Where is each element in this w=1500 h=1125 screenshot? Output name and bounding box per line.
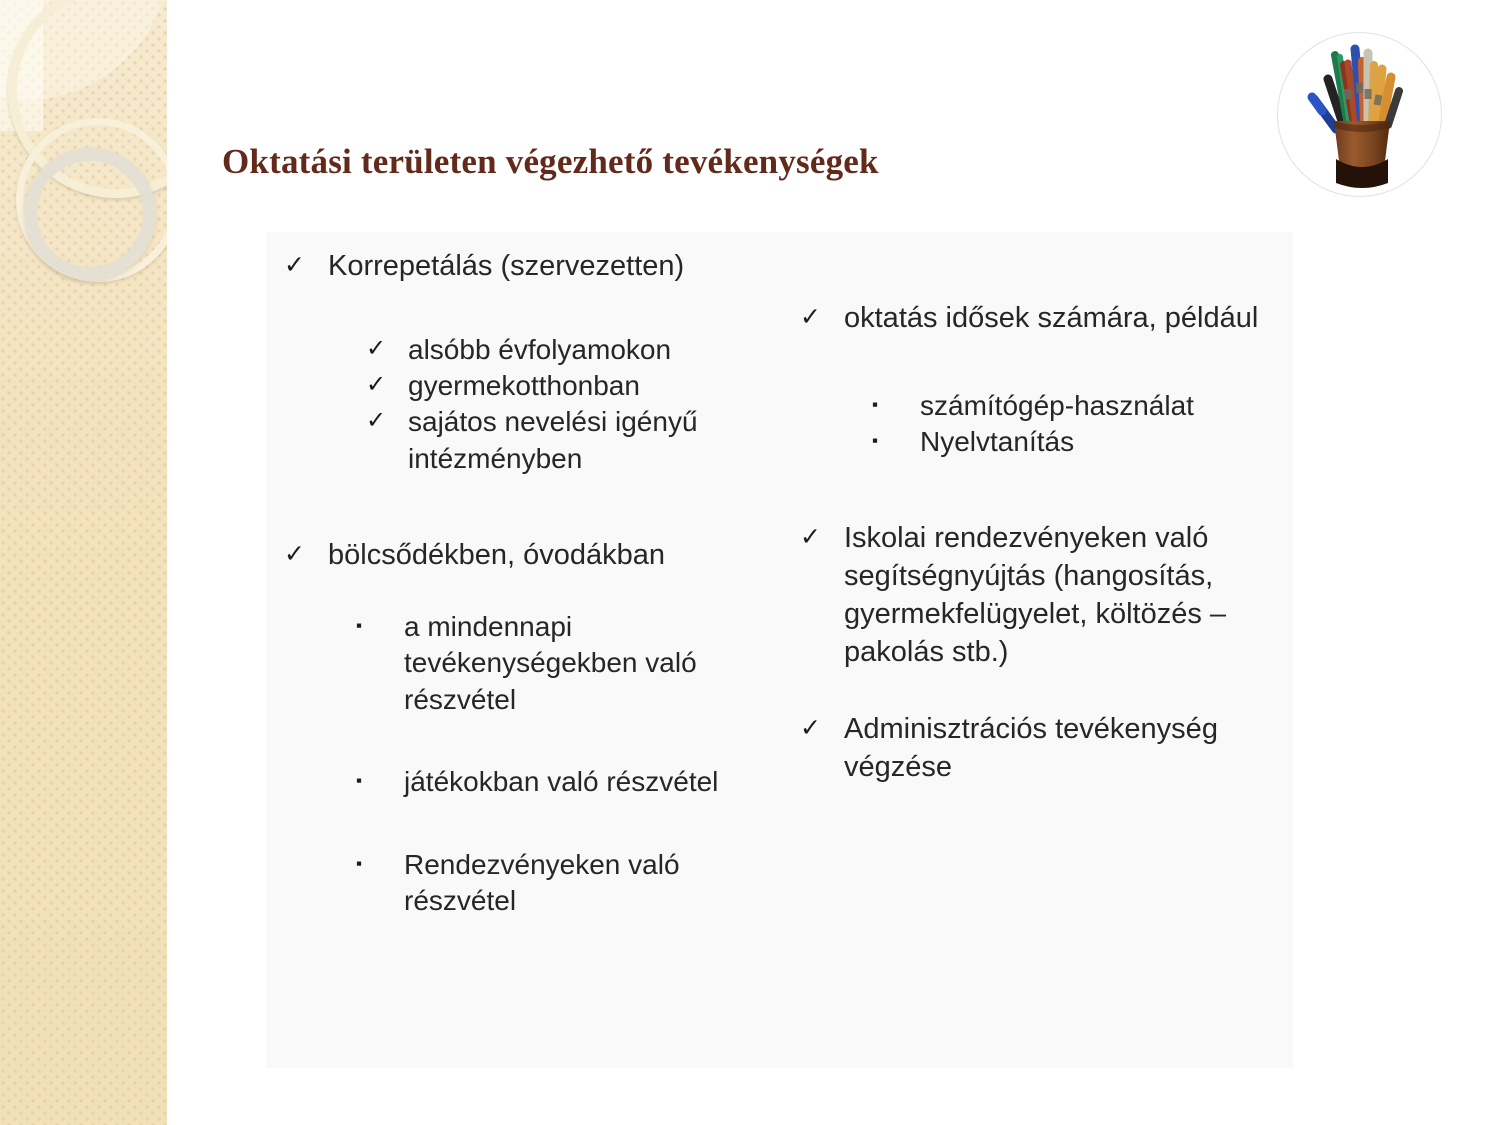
list-item[interactable]: ✓ sajátos nevelési igényű intézményben — [366, 404, 766, 477]
list-item[interactable]: ▪ a mindennapi tevékenységekben való rés… — [356, 609, 766, 718]
list-item[interactable]: ▪ játékokban való részvétel — [356, 764, 766, 800]
check-icon: ✓ — [366, 368, 408, 403]
list-item-label: Iskolai rendezvényeken való segítségnyúj… — [844, 520, 1282, 671]
right-content-column: ✓ oktatás idősek számára, például ▪ szám… — [782, 232, 1282, 787]
list-item[interactable]: ✓ oktatás idősek számára, például — [800, 300, 1282, 338]
check-icon: ✓ — [366, 332, 408, 367]
spacer — [782, 232, 1282, 300]
list-item-label: a mindennapi tevékenységekben való részv… — [404, 609, 766, 718]
check-icon: ✓ — [366, 404, 408, 439]
spacer — [266, 718, 766, 764]
list-item-label: Korrepetálás (szervezetten) — [328, 248, 766, 286]
spacer — [782, 460, 1282, 520]
square-bullet-icon: ▪ — [356, 764, 404, 797]
spacer — [266, 801, 766, 847]
list-item[interactable]: ▪ számítógép-használat — [872, 388, 1282, 424]
list-item[interactable]: ✓ Adminisztrációs tevékenység végzése — [800, 711, 1282, 786]
list-item-label: Nyelvtanítás — [920, 424, 1282, 460]
content-panel: ✓ Korrepetálás (szervezetten) ✓ alsóbb é… — [266, 232, 1293, 1068]
check-icon: ✓ — [800, 520, 844, 556]
list-item[interactable]: ▪ Nyelvtanítás — [872, 424, 1282, 460]
spacer — [266, 232, 766, 248]
slide-title: Oktatási területen végezhető tevékenység… — [222, 142, 1222, 182]
square-bullet-icon: ▪ — [356, 609, 404, 642]
list-item-label: sajátos nevelési igényű intézményben — [408, 404, 766, 477]
list-item-label: Rendezvényeken való részvétel — [404, 847, 766, 920]
square-bullet-icon: ▪ — [872, 424, 920, 457]
list-item[interactable]: ▪ Rendezvényeken való részvétel — [356, 847, 766, 920]
list-item-label: játékokban való részvétel — [404, 764, 766, 800]
list-item-label: alsóbb évfolyamokon — [408, 332, 766, 368]
decorative-ring-grey — [24, 148, 156, 280]
spacer — [266, 477, 766, 537]
list-item-label: oktatás idősek számára, például — [844, 300, 1282, 338]
check-icon: ✓ — [800, 300, 844, 336]
decorative-sidebar — [0, 0, 167, 1125]
spacer — [782, 338, 1282, 388]
paintbrushes-in-wooden-cup-photo — [1277, 32, 1442, 197]
list-item[interactable]: ✓ bölcsődékben, óvodákban — [284, 537, 766, 575]
square-bullet-icon: ▪ — [356, 847, 404, 880]
list-item-label: gyermekotthonban — [408, 368, 766, 404]
list-item-label: bölcsődékben, óvodákban — [328, 537, 766, 575]
list-item[interactable]: ✓ Korrepetálás (szervezetten) — [284, 248, 766, 286]
spacer — [266, 575, 766, 609]
list-item[interactable]: ✓ gyermekotthonban — [366, 368, 766, 404]
list-item[interactable]: ✓ alsóbb évfolyamokon — [366, 332, 766, 368]
square-bullet-icon: ▪ — [872, 388, 920, 421]
spacer — [782, 671, 1282, 711]
check-icon: ✓ — [284, 248, 328, 284]
left-content-column: ✓ Korrepetálás (szervezetten) ✓ alsóbb é… — [266, 232, 766, 919]
list-item-label: Adminisztrációs tevékenység végzése — [844, 711, 1282, 786]
check-icon: ✓ — [284, 537, 328, 573]
check-icon: ✓ — [800, 711, 844, 747]
list-item-label: számítógép-használat — [920, 388, 1282, 424]
list-item[interactable]: ✓ Iskolai rendezvényeken való segítségny… — [800, 520, 1282, 671]
spacer — [266, 286, 766, 332]
